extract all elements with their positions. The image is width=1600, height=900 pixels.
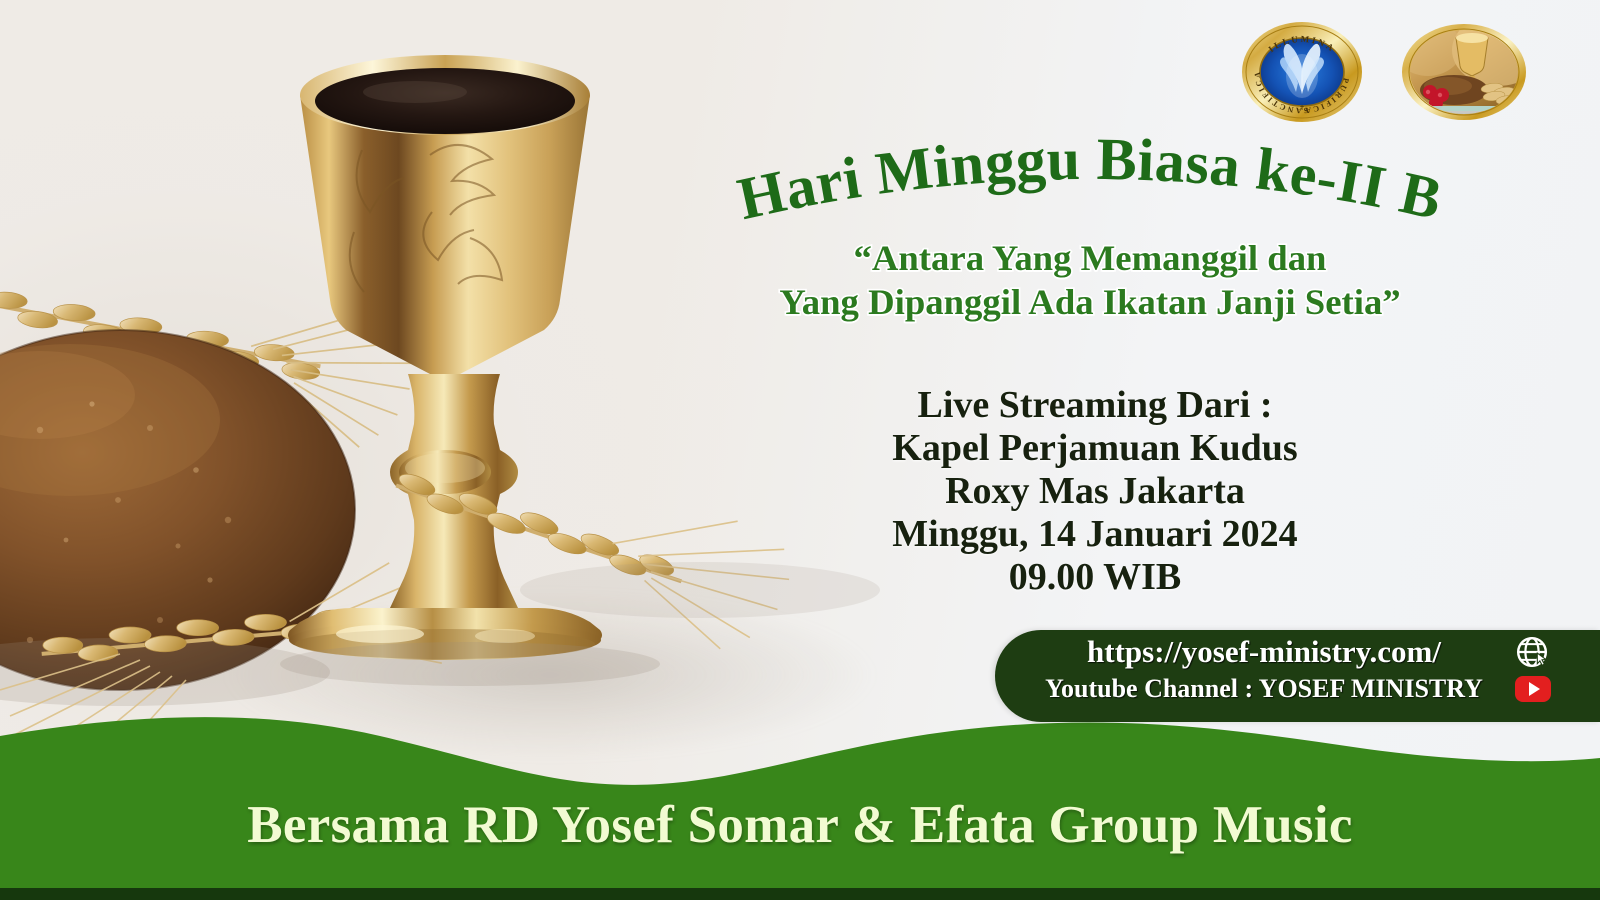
bottom-dark-strip bbox=[0, 888, 1600, 900]
event-info-block: Live Streaming Dari : Kapel Perjamuan Ku… bbox=[840, 384, 1350, 599]
website-row[interactable]: https://yosef-ministry.com/ bbox=[1029, 634, 1549, 670]
purifica-illumina-sanctifica-seal: ILLUMINA PURIFICA SANCTIFICA ✝ bbox=[1238, 18, 1366, 126]
page-title: Hari Minggu Biasa ke-II B bbox=[640, 132, 1540, 252]
website-url[interactable]: https://yosef-ministry.com/ bbox=[1029, 634, 1499, 670]
page-title-text: Hari Minggu Biasa ke-II B bbox=[732, 132, 1448, 232]
youtube-icon[interactable] bbox=[1515, 676, 1551, 702]
eucharist-photo-badge bbox=[1398, 22, 1530, 122]
subtitle-line-1: “Antara Yang Memanggil dan bbox=[651, 236, 1528, 280]
youtube-row[interactable]: Youtube Channel : YOSEF MINISTRY bbox=[1029, 674, 1551, 704]
svg-text:Hari Minggu Biasa ke-II B: Hari Minggu Biasa ke-II B bbox=[732, 132, 1448, 232]
globe-icon bbox=[1515, 635, 1549, 669]
poster-root: Hari Minggu Biasa ke-II B “Antara Yang M… bbox=[0, 0, 1600, 900]
info-line-venue-city: Roxy Mas Jakarta bbox=[840, 470, 1350, 513]
info-line-date: Minggu, 14 Januari 2024 bbox=[840, 513, 1350, 556]
footer-credit: Bersama RD Yosef Somar & Efata Group Mus… bbox=[0, 795, 1600, 855]
info-line-live-streaming: Live Streaming Dari : bbox=[840, 384, 1350, 427]
subtitle-line-2: Yang Dipanggil Ada Ikatan Janji Setia” bbox=[651, 280, 1528, 324]
info-line-venue-chapel: Kapel Perjamuan Kudus bbox=[840, 427, 1350, 470]
subtitle-block: “Antara Yang Memanggil dan Yang Dipanggi… bbox=[651, 236, 1528, 324]
contact-panel: https://yosef-ministry.com/ Youtube Chan… bbox=[995, 630, 1600, 722]
svg-text:✝: ✝ bbox=[1299, 104, 1305, 112]
youtube-channel[interactable]: Youtube Channel : YOSEF MINISTRY bbox=[1029, 674, 1499, 704]
info-line-time: 09.00 WIB bbox=[840, 556, 1350, 599]
